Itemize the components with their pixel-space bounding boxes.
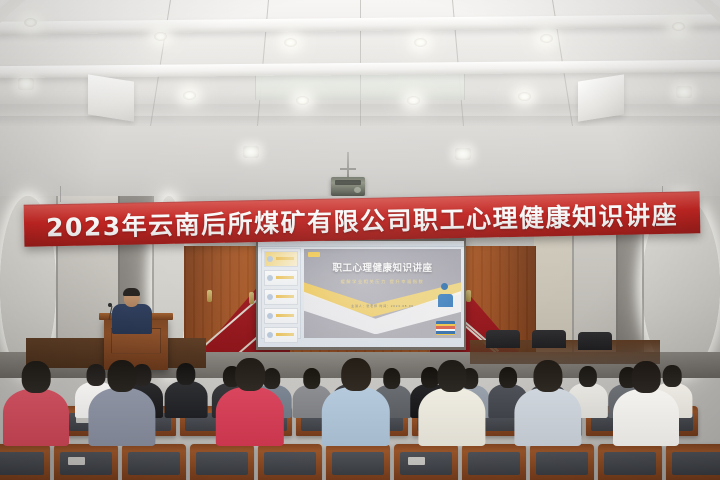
chair-cushion [468,452,520,475]
ceiling-downlight [243,146,259,158]
audience-member-torso [165,381,208,418]
slide-books-graphic [436,321,455,335]
audience-member-torso [514,388,581,446]
audience-member-head [22,361,51,393]
audience-member [216,354,284,446]
slide-thumbnail-panel [261,248,301,339]
chair [326,444,390,480]
chair [598,444,662,480]
audience-member-head [579,366,597,387]
ceiling-downlight [455,148,471,160]
chair [0,444,50,480]
chair-cushion [0,452,44,475]
audience-member [3,357,69,446]
audience-member [514,355,581,446]
chair-tag [68,457,85,465]
audience-member [165,359,208,418]
ceiling-corner-block [578,74,624,121]
slide-thumbnail [264,327,298,343]
chair-cushion [604,452,656,475]
lecture-hall-photo: 职工心理健康知识讲座 缓解学业相关压力 提升幸福指数 主讲人：张老师 时间：20… [0,0,720,480]
slide-title: 职工心理健康知识讲座 [304,260,461,274]
projection-screen-frame: 职工心理健康知识讲座 缓解学业相关压力 提升幸福指数 主讲人：张老师 时间：20… [256,238,466,350]
audience-member-torso [3,389,69,446]
audience-member-head [437,360,466,392]
ceiling-projector [331,177,365,196]
powerpoint-window: 职工心理健康知识讲座 缓解学业相关压力 提升幸福指数 主讲人：张老师 时间：20… [258,241,464,347]
ceiling-downlight [183,91,196,100]
chair [122,444,186,480]
chair [530,444,594,480]
audience-member [613,357,679,446]
audience-area [0,352,720,480]
flag-finial [249,292,254,304]
projector-mount-pole [347,152,349,178]
ceiling-downlight [676,86,692,98]
audience-member-head [303,368,320,388]
stage-chair [532,330,566,348]
audience-member-head [107,360,136,392]
audience-member-head [176,363,195,385]
ceiling-downlight [414,38,427,47]
slide-thumbnail [264,289,298,305]
audience-member [322,354,390,446]
chair-cushion [536,452,588,475]
stage-chair [578,332,612,350]
ceiling-downlight [518,92,531,101]
chair [666,444,720,480]
current-slide: 职工心理健康知识讲座 缓解学业相关压力 提升幸福指数 主讲人：张老师 时间：20… [304,249,461,338]
chair-cushion [264,452,316,475]
ceiling-downlight [154,32,167,41]
ceiling-downlight [540,34,553,43]
audience-member-torso [613,389,679,446]
chair-cushion [332,452,384,475]
chair-cushion [672,452,720,475]
banner-rope [60,186,61,202]
audience-member-head [341,358,371,391]
microphone [108,303,112,307]
audience-member-torso [418,388,485,446]
speaker-body [112,304,152,334]
slide-subtitle: 缓解学业相关压力 提升幸福指数 [304,279,461,285]
ceiling-downlight [284,38,297,47]
ceiling-corner-block [88,74,134,121]
projector-mount-arm [340,168,356,170]
chair [394,444,458,480]
ceiling-downlight [18,78,34,90]
slide-thumbnail [264,270,298,286]
ceiling-downlight [296,96,309,105]
audience-member-torso [322,387,390,446]
chair-tag [408,457,425,465]
ceiling-downlight [24,18,37,27]
audience-member [418,355,485,446]
powerpoint-toolbar [258,241,464,247]
audience-member-head [533,360,562,392]
chair [258,444,322,480]
ceiling [0,0,720,200]
stage-chair [486,330,520,348]
projection-screen: 职工心理健康知识讲座 缓解学业相关压力 提升幸福指数 主讲人：张老师 时间：20… [258,241,464,347]
chair-cushion [128,452,180,475]
audience-member-torso [88,388,155,446]
chair [190,444,254,480]
flag-finial [207,290,212,302]
chair [54,444,118,480]
flag-finial [466,290,471,302]
chair [462,444,526,480]
ceiling-downlight [407,96,420,105]
slide-thumbnail [264,251,298,267]
slide-meta: 主讲人：张老师 时间：2023.08.00 [304,304,461,308]
ceiling-downlight [672,22,685,31]
slide-logo-badge [308,252,320,257]
audience-member-head [632,361,661,393]
speaker-hair [123,288,140,296]
slide-thumbnail [264,308,298,324]
audience-member [88,355,155,446]
audience-member-torso [216,387,284,446]
audience-member-head [235,358,265,391]
chair-cushion [196,452,248,475]
